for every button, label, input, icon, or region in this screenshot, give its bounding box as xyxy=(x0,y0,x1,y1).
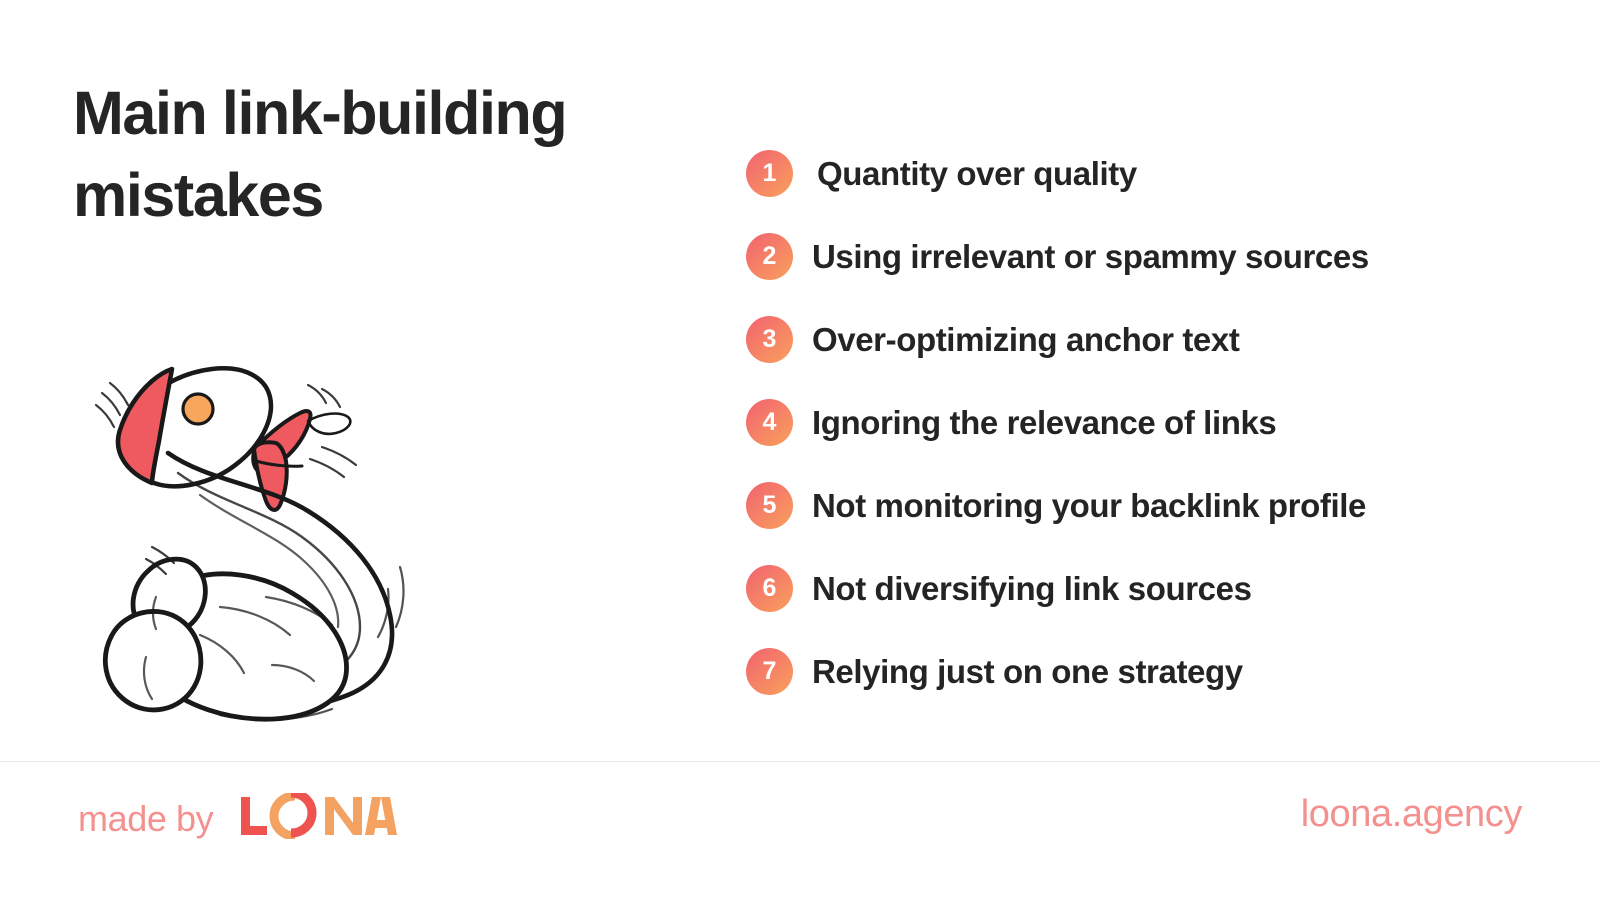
loona-logo[interactable] xyxy=(239,793,397,844)
list-number-badge: 4 xyxy=(746,399,793,446)
website-label[interactable]: loona.agency xyxy=(1301,793,1522,836)
list-item-label: Not diversifying link sources xyxy=(812,570,1252,608)
rocket-illustration xyxy=(60,335,450,725)
footer-divider xyxy=(0,761,1600,762)
list-item: 3 Over-optimizing anchor text xyxy=(746,298,1566,381)
list-item-label: Over-optimizing anchor text xyxy=(812,321,1239,359)
list-number-badge: 6 xyxy=(746,565,793,612)
list-number-badge: 7 xyxy=(746,648,793,695)
smoke-puff-lower-left xyxy=(105,611,201,710)
smoke-loop-small xyxy=(308,414,350,434)
list-item-label: Quantity over quality xyxy=(817,155,1137,193)
list-item: 6 Not diversifying link sources xyxy=(746,547,1566,630)
list-item-label: Relying just on one strategy xyxy=(812,653,1243,691)
poster-canvas: Main link-building mistakes xyxy=(0,0,1600,899)
list-number-badge: 3 xyxy=(746,316,793,363)
logo-letter-l xyxy=(241,797,267,835)
list-item: 7 Relying just on one strategy xyxy=(746,630,1566,713)
list-item: 1 Quantity over quality xyxy=(746,132,1566,215)
list-number-badge: 5 xyxy=(746,482,793,529)
list-item: 4 Ignoring the relevance of links xyxy=(746,381,1566,464)
footer-credit: made by xyxy=(78,793,397,844)
list-number-badge: 1 xyxy=(746,150,793,197)
list-number-badge: 2 xyxy=(746,233,793,280)
list-item: 2 Using irrelevant or spammy sources xyxy=(746,215,1566,298)
list-item-label: Using irrelevant or spammy sources xyxy=(812,238,1369,276)
page-title: Main link-building mistakes xyxy=(73,72,713,237)
mistakes-list: 1 Quantity over quality 2 Using irreleva… xyxy=(746,132,1566,713)
list-item: 5 Not monitoring your backlink profile xyxy=(746,464,1566,547)
logo-letter-a xyxy=(365,797,397,835)
made-by-label: made by xyxy=(78,798,213,840)
rocket-window xyxy=(183,394,213,424)
logo-letter-n xyxy=(325,797,362,835)
list-item-label: Ignoring the relevance of links xyxy=(812,404,1276,442)
list-item-label: Not monitoring your backlink profile xyxy=(812,487,1366,525)
